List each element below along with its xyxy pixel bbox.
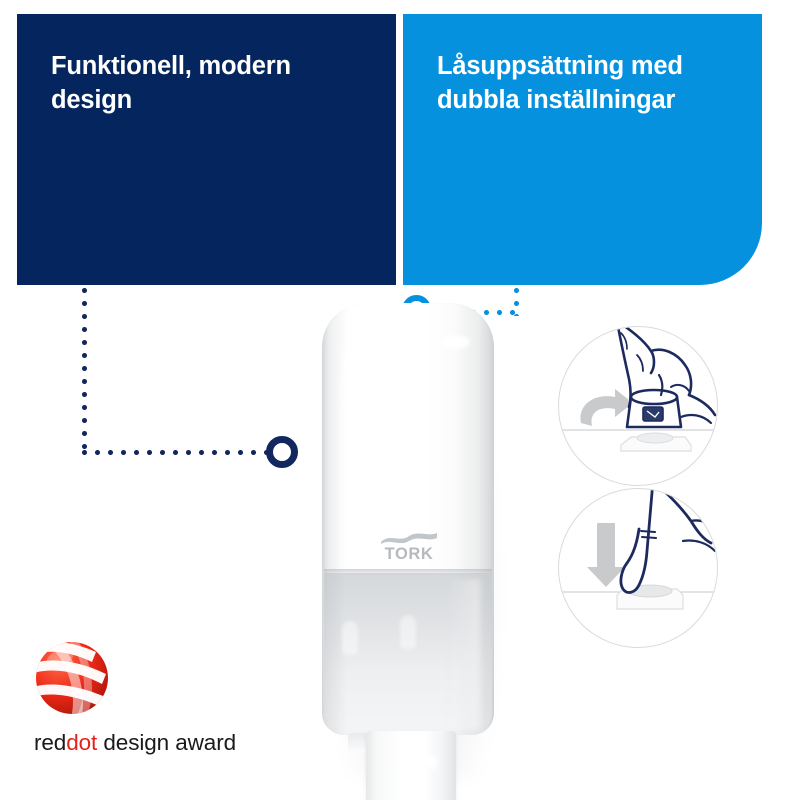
instruction-turn-lock xyxy=(558,326,718,486)
dispenser-specular-highlight xyxy=(440,335,470,349)
reddot-award-text: reddot design award xyxy=(34,730,236,756)
dispenser-lever-highlight xyxy=(424,755,438,769)
tork-wordmark: TORK xyxy=(376,546,442,563)
navy-connector-horizontal-dots xyxy=(82,450,267,455)
reddot-sphere-icon xyxy=(34,640,110,716)
reddot-text-suffix: design award xyxy=(97,730,236,755)
reddot-design-award-logo: reddot design award xyxy=(34,640,236,756)
dispenser-bottle-shape-b xyxy=(400,615,416,649)
press-button-illustration-icon xyxy=(559,489,718,648)
navy-connector-vertical-dots xyxy=(82,288,87,456)
turn-lock-illustration-icon xyxy=(559,327,718,486)
soap-dispenser-product-image: TORK xyxy=(320,303,502,800)
instruction-press-button xyxy=(558,488,718,648)
navy-connector-endpoint-ring-icon xyxy=(266,436,298,468)
reddot-text-red: red xyxy=(34,730,66,755)
dispenser-push-lever xyxy=(366,731,456,800)
tork-logo: TORK xyxy=(376,531,442,563)
product-feature-graphic: Funktionell, modern design Låsuppsättnin… xyxy=(0,0,800,800)
dispenser-window-highlight xyxy=(448,579,480,729)
callout-title-left: Funktionell, modern design xyxy=(51,50,362,117)
callout-title-right: Låsuppsättning med dubbla inställningar xyxy=(437,50,728,117)
callout-panel-right: Låsuppsättning med dubbla inställningar xyxy=(403,14,762,285)
tork-swoosh-icon xyxy=(380,531,438,545)
callout-panel-left: Funktionell, modern design xyxy=(17,14,396,285)
dispenser-bottle-shape-a xyxy=(342,621,358,655)
dispenser-top-highlight xyxy=(352,319,432,357)
reddot-text-dot: dot xyxy=(66,730,97,755)
